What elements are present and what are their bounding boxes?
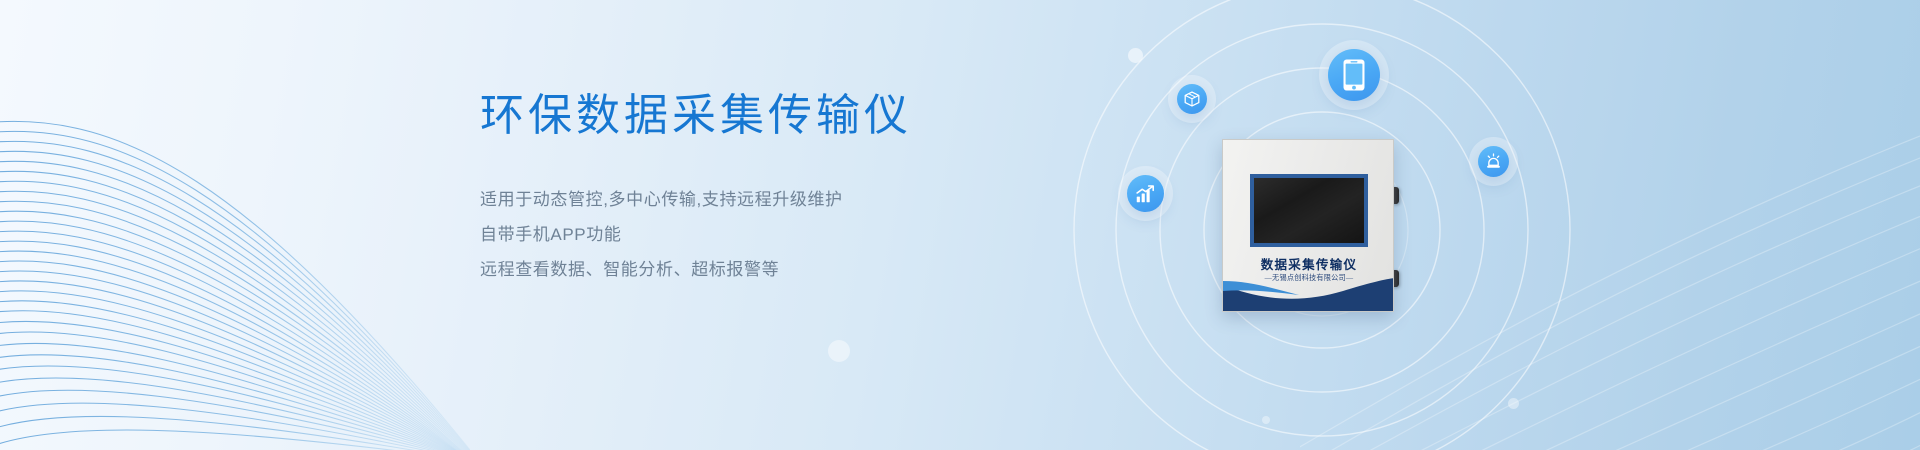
bar-chart-growth-icon-bubble[interactable]: [1127, 175, 1164, 212]
product-hero-banner: 环保数据采集传输仪 适用于动态管控,多中心传输,支持远程升级维护 自带手机APP…: [0, 0, 1920, 450]
decorative-fan-lines: [0, 120, 470, 450]
alarm-siren-icon-bubble[interactable]: [1478, 146, 1509, 177]
cube-box-icon: [1184, 91, 1200, 107]
product-device-image: 数据采集传输仪 —无锡点创科技有限公司—: [1222, 139, 1398, 314]
banner-subtitle-list: 适用于动态管控,多中心传输,支持远程升级维护 自带手机APP功能 远程查看数据、…: [480, 183, 1100, 288]
device-enclosure: 数据采集传输仪 —无锡点创科技有限公司—: [1222, 139, 1394, 312]
page-title: 环保数据采集传输仪: [480, 88, 1100, 143]
decorative-dot: [828, 340, 850, 362]
banner-subtitle-line-3: 远程查看数据、智能分析、超标报警等: [480, 253, 1100, 288]
device-display: [1254, 178, 1364, 243]
alarm-siren-icon: [1485, 153, 1502, 170]
device-screen-bezel: [1250, 174, 1368, 247]
device-wave-graphic: [1223, 267, 1394, 311]
bar-chart-growth-icon: [1135, 183, 1156, 204]
banner-copy-block: 环保数据采集传输仪 适用于动态管控,多中心传输,支持远程升级维护 自带手机APP…: [480, 88, 1100, 288]
mobile-phone-icon-bubble[interactable]: [1328, 49, 1380, 101]
cube-box-icon-bubble[interactable]: [1177, 84, 1207, 114]
banner-subtitle-line-2: 自带手机APP功能: [480, 218, 1100, 253]
decorative-dot: [1508, 398, 1519, 409]
decorative-dot: [1262, 416, 1270, 424]
banner-subtitle-line-1: 适用于动态管控,多中心传输,支持远程升级维护: [480, 183, 1100, 218]
mobile-phone-icon: [1343, 59, 1365, 91]
decorative-dot: [1128, 48, 1143, 63]
